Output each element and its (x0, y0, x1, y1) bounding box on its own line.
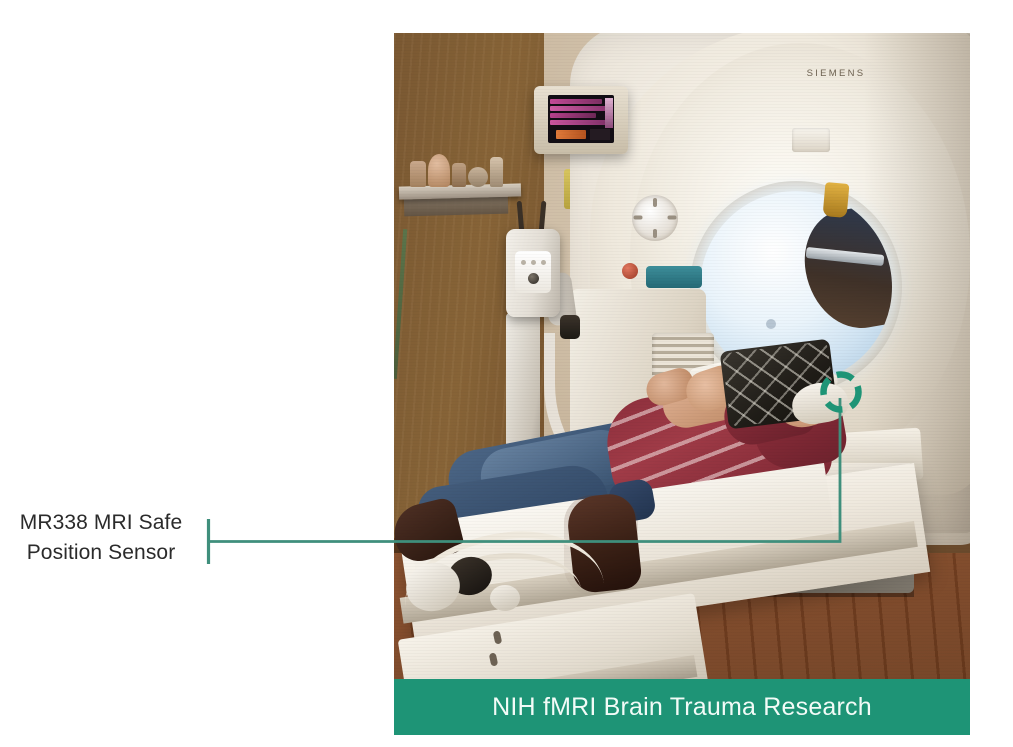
sensor-highlight-circle (818, 369, 864, 415)
callout-label-line-1: MR338 MRI Safe (8, 508, 194, 538)
callout-label: MR338 MRI Safe Position Sensor (8, 508, 194, 568)
mri-photograph: SIEMENS (394, 33, 970, 735)
figure-root: SIEMENS (0, 0, 1013, 747)
photo-grain-overlay (394, 33, 970, 735)
caption-text: NIH fMRI Brain Trauma Research (492, 693, 872, 722)
photo-scene: SIEMENS (394, 33, 970, 735)
dashed-highlight-ring (824, 375, 859, 410)
caption-bar: NIH fMRI Brain Trauma Research (394, 679, 970, 735)
callout-label-line-2: Position Sensor (8, 538, 194, 568)
